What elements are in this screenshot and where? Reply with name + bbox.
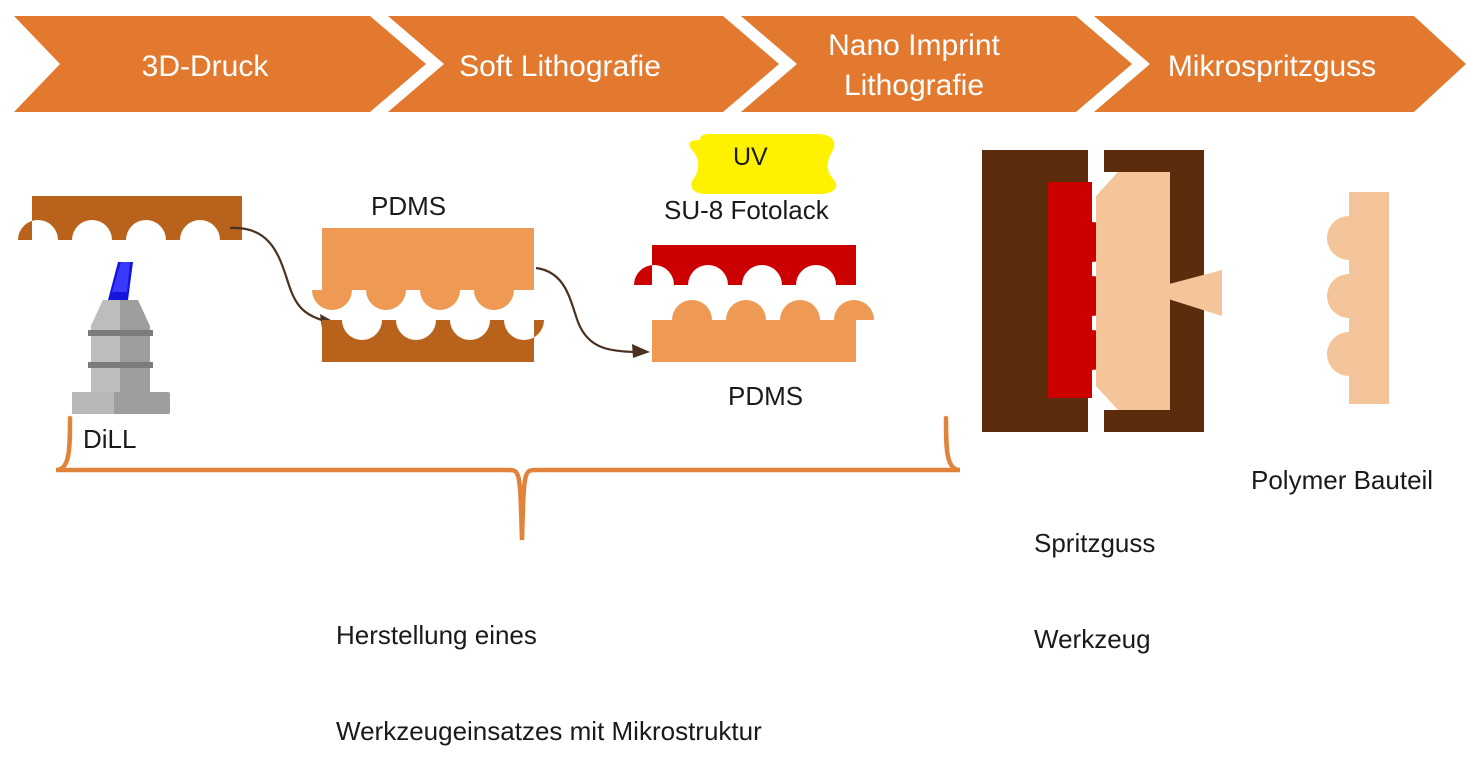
pdms-stamp-top [312, 228, 534, 310]
dill-objective-icon [72, 262, 170, 414]
process-diagram: 3D-Druck Soft Lithografie Nano Imprint L… [0, 0, 1466, 648]
polymer-part-body [1327, 192, 1389, 404]
caption-line-1: Herstellung eines [336, 620, 762, 652]
banner-step-3-label-line2[interactable]: Lithografie [844, 69, 984, 102]
label-pdms-top: PDMS [371, 191, 446, 223]
brace-path [56, 418, 960, 540]
caption-line-2: Werkzeugeinsatzes mit Mikrostruktur [336, 716, 762, 748]
label-pdms-bottom: PDMS [728, 381, 803, 413]
lens-base-highlight [72, 392, 114, 414]
pdms-stamp-nil [652, 300, 874, 362]
master-substrate [18, 196, 242, 240]
final-polymer-part [1327, 192, 1389, 404]
label-injection-mould-line-2: Werkzeug [1034, 624, 1155, 656]
connector-arrow-1 [230, 228, 330, 322]
caption-block: Herstellung eines Werkzeugeinsatzes mit … [336, 557, 762, 779]
banner-right-tip [1414, 16, 1466, 112]
banner-step-4-label[interactable]: Mikrospritzguss [1168, 50, 1376, 83]
connector-arrow-2 [536, 268, 640, 352]
banner-step-1-label[interactable]: 3D-Druck [142, 50, 270, 83]
banner-step-3-label-line1[interactable]: Nano Imprint [828, 29, 1000, 62]
process-brace [56, 418, 960, 540]
stage-3d-printing [18, 196, 338, 414]
lens-ring-2 [88, 362, 153, 368]
master-substrate-2 [322, 320, 544, 362]
stage-injection-moulding [982, 150, 1222, 432]
label-dill: DiLL [83, 424, 136, 456]
label-su8-photoresist: SU-8 Fotolack [664, 195, 829, 227]
label-injection-mould: Spritzguss Werkzeug [1034, 465, 1155, 687]
process-banner: 3D-Druck Soft Lithografie Nano Imprint L… [14, 16, 1466, 112]
label-injection-mould-line-1: Spritzguss [1034, 528, 1155, 560]
label-polymer-part: Polymer Bauteil [1251, 465, 1433, 497]
su8-photoresist-layer [634, 245, 856, 285]
banner-step-2-label[interactable]: Soft Lithografie [459, 50, 661, 83]
lens-ring-1 [88, 330, 153, 336]
lens-highlight [91, 300, 120, 404]
diagram-canvas: 3D-Druck Soft Lithografie Nano Imprint L… [0, 0, 1466, 648]
stage-soft-lithography [312, 228, 650, 362]
connector-arrow-2-head [632, 344, 650, 358]
label-uv: UV [733, 142, 768, 173]
